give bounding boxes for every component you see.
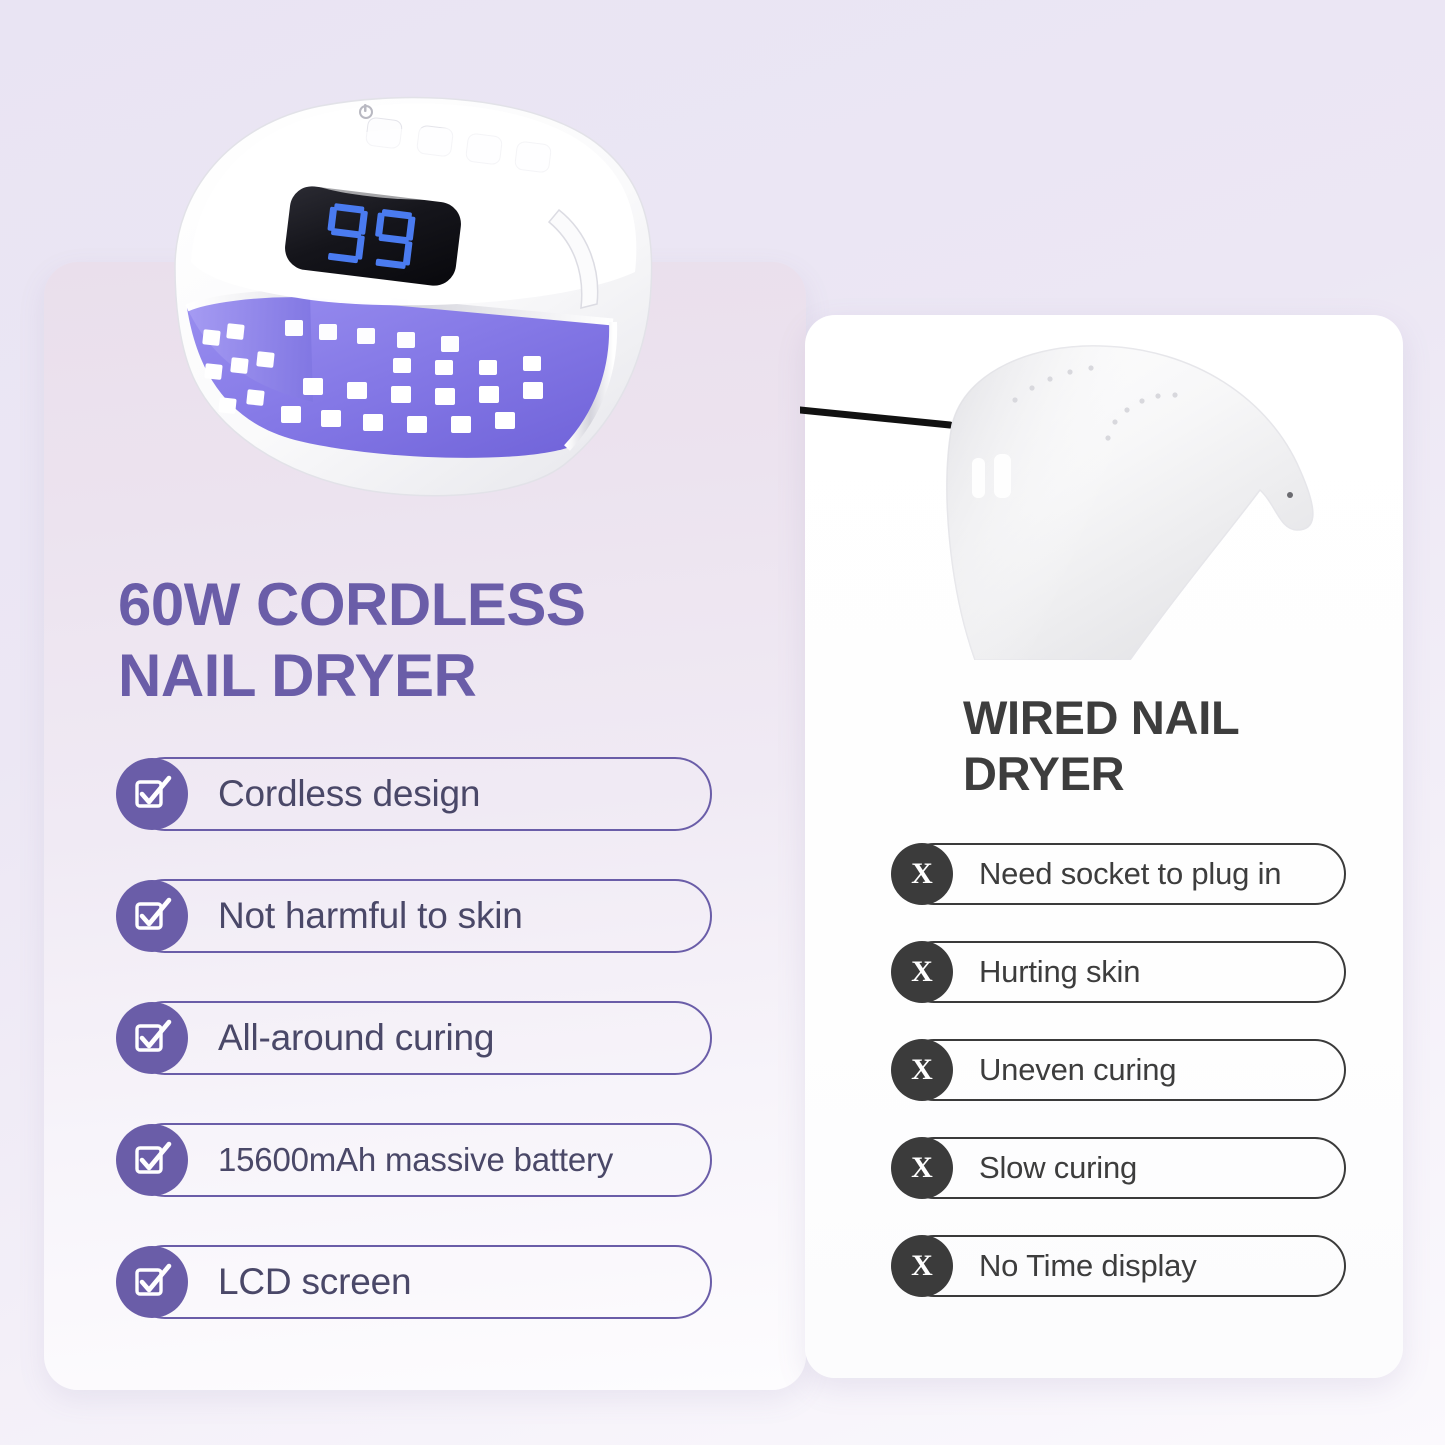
indicator-dot: [1287, 492, 1293, 498]
drawback-label: Need socket to plug in: [979, 856, 1281, 892]
x-icon: X: [891, 843, 953, 905]
drawback-label: No Time display: [979, 1248, 1197, 1284]
drawback-pill-hurting-skin[interactable]: X Hurting skin: [903, 941, 1346, 1003]
cordless-feature-list: Cordless design Not harmful to skin All-…: [128, 757, 712, 1319]
check-icon: [116, 1246, 188, 1318]
wired-title-line2: DRYER: [963, 747, 1124, 800]
feature-pill-cordless-design[interactable]: Cordless design: [128, 757, 712, 831]
feature-label: 15600mAh massive battery: [218, 1141, 613, 1179]
cordless-title: 60W CORDLESS NAIL DRYER: [118, 570, 778, 712]
dryer-shading: [947, 346, 1313, 660]
drawback-pill-no-time-display[interactable]: X No Time display: [903, 1235, 1346, 1297]
check-icon: [116, 1002, 188, 1074]
wired-title-line1: WIRED NAIL: [963, 691, 1239, 744]
x-icon: X: [891, 1137, 953, 1199]
drawback-pill-slow-curing[interactable]: X Slow curing: [903, 1137, 1346, 1199]
check-icon: [116, 1124, 188, 1196]
drawback-label: Slow curing: [979, 1150, 1137, 1186]
check-icon: [116, 758, 188, 830]
feature-label: LCD screen: [218, 1261, 411, 1303]
top-gloss: [285, 128, 585, 200]
feature-label: Cordless design: [218, 773, 480, 815]
cordless-title-line2: NAIL DRYER: [118, 641, 778, 712]
feature-pill-not-harmful[interactable]: Not harmful to skin: [128, 879, 712, 953]
cordless-lamp-image: [135, 72, 695, 552]
power-cord: [800, 410, 950, 425]
infographic-stage: 60W CORDLESS NAIL DRYER Cordless design …: [0, 0, 1445, 1445]
drawback-pill-uneven-curing[interactable]: X Uneven curing: [903, 1039, 1346, 1101]
drawback-label: Uneven curing: [979, 1052, 1176, 1088]
feature-pill-battery[interactable]: 15600mAh massive battery: [128, 1123, 712, 1197]
x-icon: X: [891, 1039, 953, 1101]
feature-label: All-around curing: [218, 1017, 494, 1059]
feature-pill-lcd-screen[interactable]: LCD screen: [128, 1245, 712, 1319]
wired-title: WIRED NAIL DRYER: [963, 690, 1383, 803]
cordless-title-line1: 60W CORDLESS: [118, 571, 585, 638]
x-icon: X: [891, 1235, 953, 1297]
check-icon: [116, 880, 188, 952]
drawback-label: Hurting skin: [979, 954, 1140, 990]
drawback-pill-need-socket[interactable]: X Need socket to plug in: [903, 843, 1346, 905]
wired-drawback-list: X Need socket to plug in X Hurting skin …: [903, 843, 1346, 1297]
feature-pill-all-around-curing[interactable]: All-around curing: [128, 1001, 712, 1075]
wired-nail-dryer-image: [800, 330, 1370, 660]
feature-label: Not harmful to skin: [218, 895, 523, 937]
x-icon: X: [891, 941, 953, 1003]
